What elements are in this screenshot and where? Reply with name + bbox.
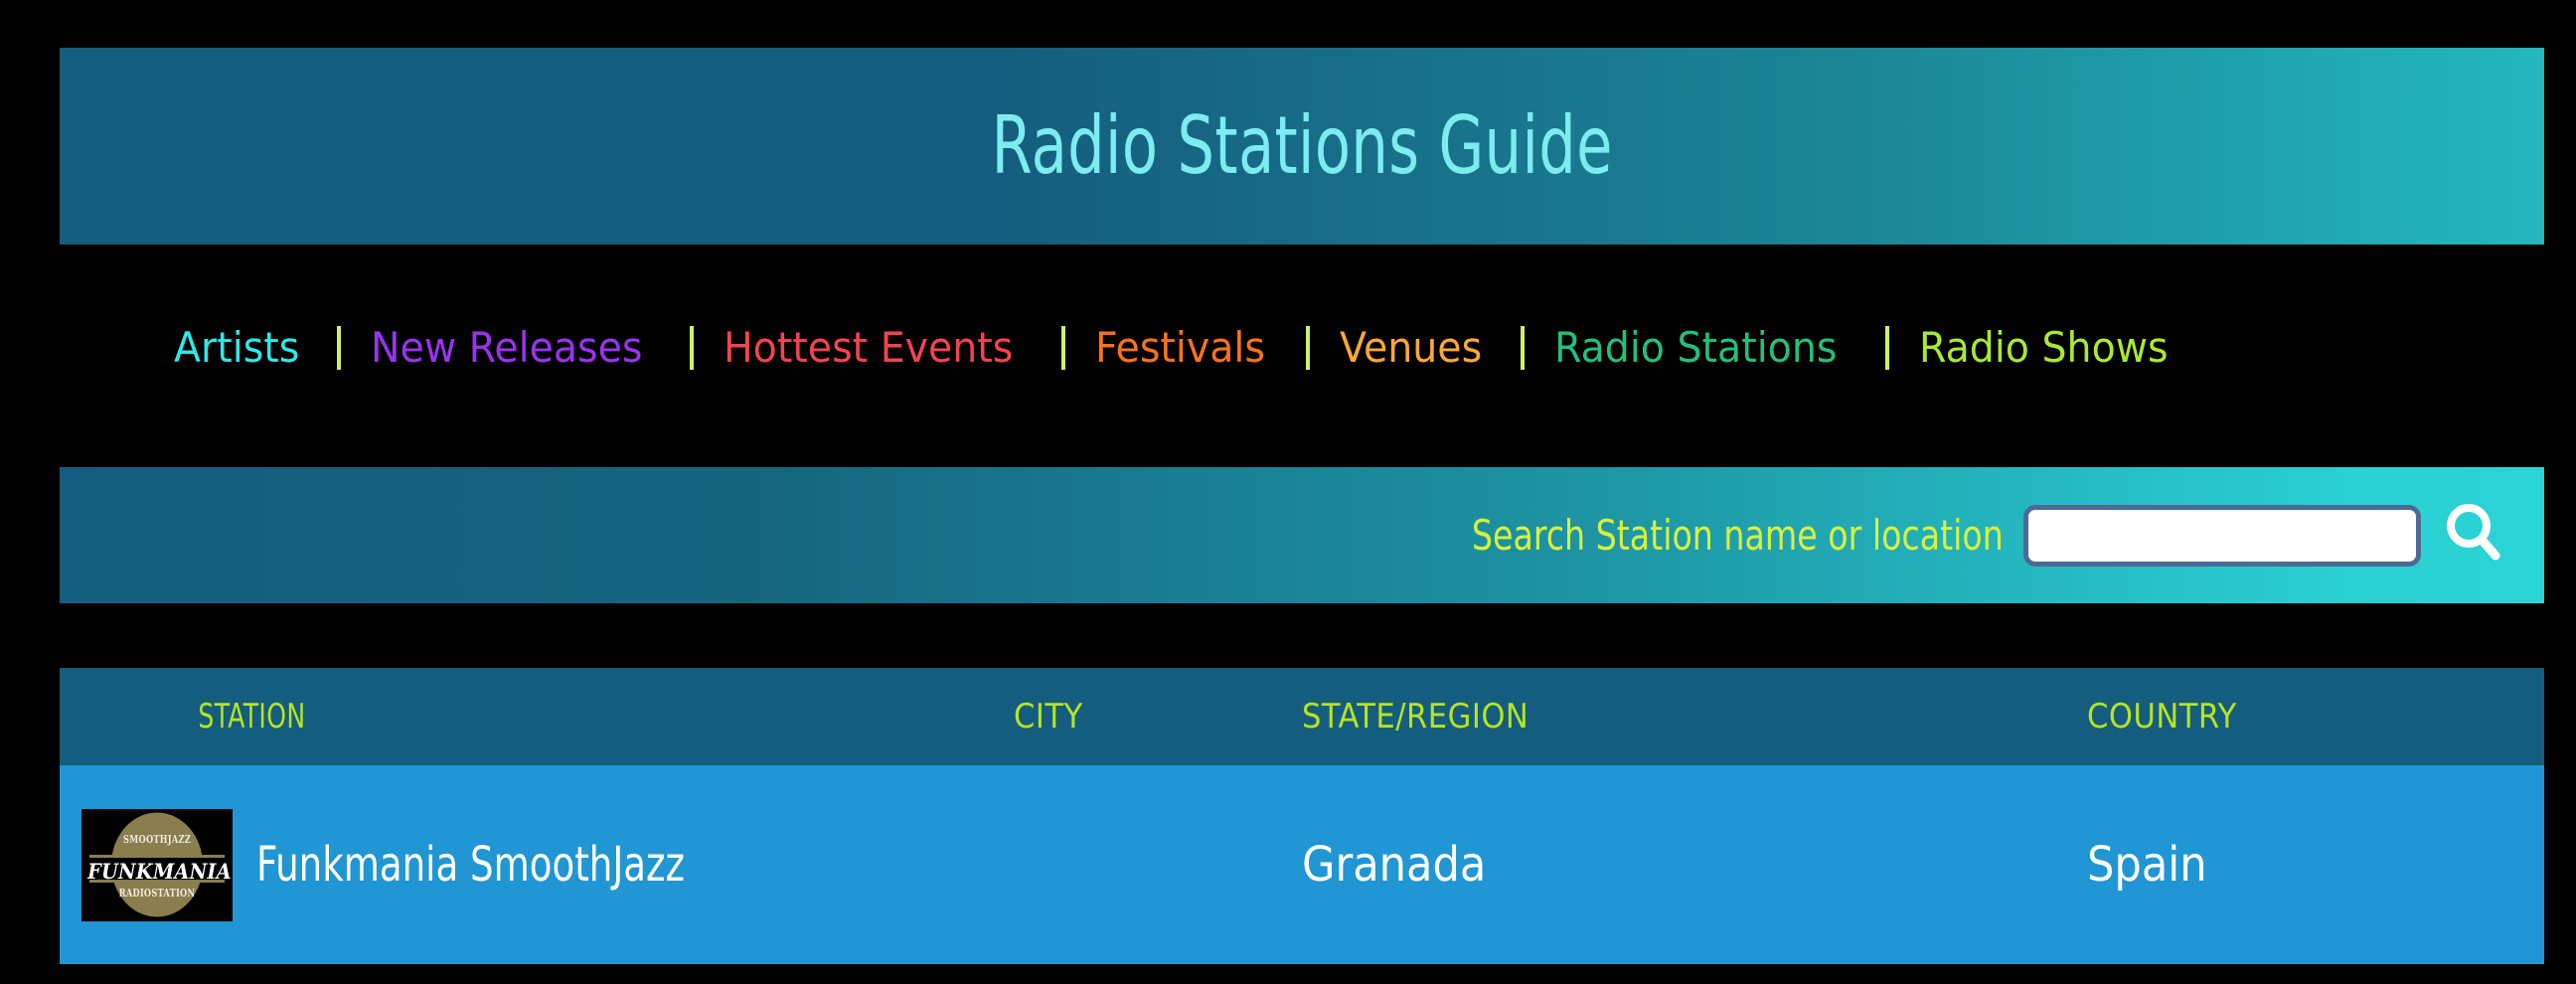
page-root: Radio Stations Guide Artists New Release… bbox=[0, 0, 2576, 984]
station-country: Spain bbox=[2087, 837, 2207, 893]
station-name: Funkmania SmoothJazz bbox=[256, 837, 685, 893]
column-label-state: STATE/REGION bbox=[1302, 697, 1529, 737]
nav-separator bbox=[1306, 326, 1310, 370]
table-header-row: STATION CITY STATE/REGION COUNTRY bbox=[60, 668, 2544, 765]
table-header-cell-state[interactable]: STATE/REGION bbox=[1302, 697, 2087, 737]
nav-separator bbox=[1885, 326, 1889, 370]
logo-bottom-text: RADIOSTATION bbox=[100, 887, 214, 900]
search-input[interactable] bbox=[2023, 505, 2421, 567]
column-label-country: COUNTRY bbox=[2087, 697, 2237, 737]
search-icon bbox=[2438, 498, 2509, 573]
search-bar: Search Station name or location bbox=[60, 467, 2544, 603]
station-state: Granada bbox=[1302, 837, 1486, 893]
column-label-city: CITY bbox=[1014, 697, 1083, 737]
table-cell-state: Granada bbox=[1302, 837, 2087, 893]
table-header-cell-station[interactable]: STATION bbox=[60, 697, 1014, 737]
nav-separator bbox=[1521, 326, 1525, 370]
page-title: Radio Stations Guide bbox=[991, 106, 1612, 186]
logo-top-text: SMOOTHJAZZ bbox=[100, 833, 214, 846]
nav-item-new-releases[interactable]: New Releases bbox=[371, 327, 642, 369]
nav-item-hottest-events[interactable]: Hottest Events bbox=[724, 327, 1013, 369]
stations-table: STATION CITY STATE/REGION COUNTRY bbox=[60, 668, 2544, 964]
table-header-cell-city[interactable]: CITY bbox=[1014, 697, 1302, 737]
column-label-station: STATION bbox=[60, 697, 306, 737]
search-button[interactable] bbox=[2435, 497, 2512, 574]
nav-item-festivals[interactable]: Festivals bbox=[1095, 327, 1265, 369]
header-banner: Radio Stations Guide bbox=[60, 48, 2544, 245]
nav-item-radio-shows[interactable]: Radio Shows bbox=[1919, 327, 2169, 369]
station-logo: SMOOTHJAZZ FUNKMANIA RADIOSTATION bbox=[81, 809, 233, 921]
table-row[interactable]: SMOOTHJAZZ FUNKMANIA RADIOSTATION Funkma… bbox=[60, 765, 2544, 964]
nav-separator bbox=[1061, 326, 1065, 370]
logo-main-text: FUNKMANIA bbox=[87, 859, 227, 884]
nav-separator bbox=[337, 326, 341, 370]
nav-item-radio-stations[interactable]: Radio Stations bbox=[1554, 327, 1837, 369]
table-cell-country: Spain bbox=[2087, 837, 2544, 893]
nav-separator bbox=[690, 326, 694, 370]
table-header-cell-country[interactable]: COUNTRY bbox=[2087, 697, 2544, 737]
main-navigation: Artists New Releases Hottest Events Fest… bbox=[174, 313, 2184, 383]
table-cell-station: SMOOTHJAZZ FUNKMANIA RADIOSTATION Funkma… bbox=[60, 809, 1014, 921]
nav-item-artists[interactable]: Artists bbox=[174, 327, 299, 369]
nav-item-venues[interactable]: Venues bbox=[1340, 327, 1482, 369]
search-label: Search Station name or location bbox=[1472, 511, 2004, 560]
